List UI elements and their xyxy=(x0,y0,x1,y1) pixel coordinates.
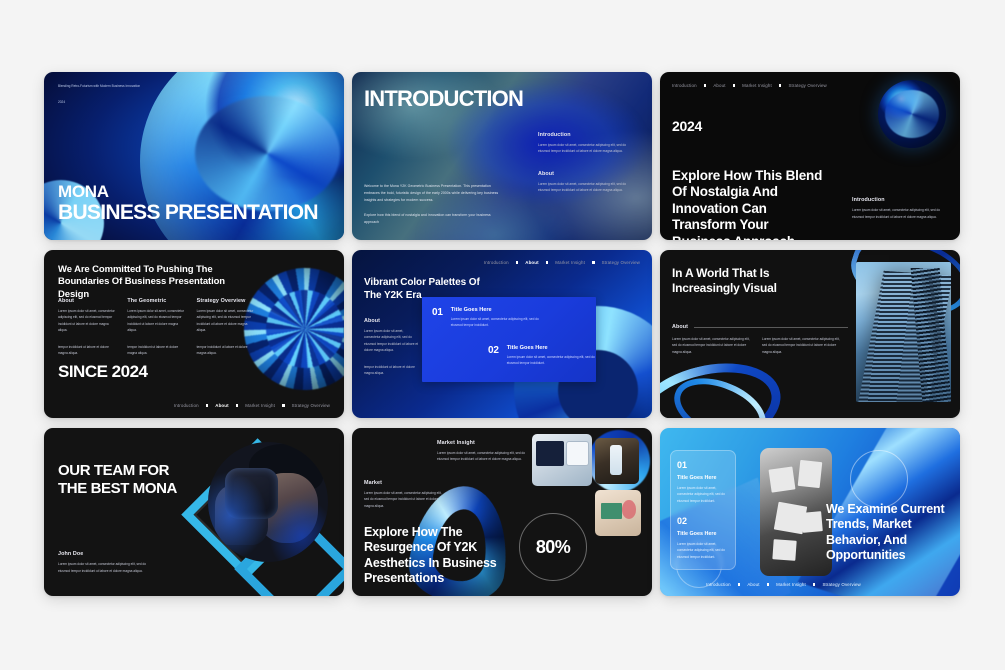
photo-detail xyxy=(208,442,328,562)
nav-item-introduction[interactable]: Introduction xyxy=(174,403,199,408)
nav-item-market-insight[interactable]: Market Insight xyxy=(245,403,275,408)
slide4-col-3-label: Strategy Overview xyxy=(197,298,254,304)
slide9-item-02-title: Title Goes Here xyxy=(677,531,731,537)
slide-grid: Blending Retro-Futurism with Modern Busi… xyxy=(44,72,960,596)
slide4-column: About Lorem ipsum dolor sit amet, consec… xyxy=(58,298,115,356)
team-member-photo xyxy=(208,442,328,562)
slide5-item-01-number: 01 xyxy=(432,307,443,329)
slide4-column: Strategy Overview Lorem ipsum dolor sit … xyxy=(197,298,254,356)
thumbnail-documents xyxy=(595,490,641,536)
nav-dot-icon xyxy=(546,261,549,264)
slide6-body-2: Lorem ipsum dolor sit amet, consectetur … xyxy=(762,336,840,355)
nav-item-strategy-overview[interactable]: Strategy Overview xyxy=(788,83,826,88)
nav-item-introduction[interactable]: Introduction xyxy=(484,260,509,265)
intro-col-1-label: Introduction xyxy=(538,132,638,138)
slide4-headline: We Are Committed To Pushing The Boundari… xyxy=(58,264,246,301)
slide5-side-label: About xyxy=(364,318,420,324)
slide5-item-02-body: Lorem ipsum dolor sit amet, consectetur … xyxy=(507,354,599,367)
slide3-side-label: Introduction xyxy=(852,197,948,203)
nav-item-market-insight[interactable]: Market Insight xyxy=(742,83,772,88)
slide4-col-1-body: Lorem ipsum dolor sit amet, consectetur … xyxy=(58,308,115,334)
team-meeting-photo xyxy=(760,448,832,576)
nav-dot-icon xyxy=(206,404,209,407)
slide4-big-text: SINCE 2024 xyxy=(58,362,148,382)
skyscraper-photo xyxy=(856,262,951,402)
slide-cover[interactable]: Blending Retro-Futurism with Modern Busi… xyxy=(44,72,344,240)
slide7-person-name: John Doe xyxy=(58,551,152,557)
cover-title-small: MONA xyxy=(58,183,334,200)
slide4-col-2-label: The Geometric xyxy=(127,298,184,304)
slide8-body-left: Lorem ipsum dolor sit amet, consectetur … xyxy=(364,490,442,509)
slide9-item-02-body: Lorem ipsum dolor sit amet, consectetur … xyxy=(677,541,731,560)
nav-item-introduction[interactable]: Introduction xyxy=(706,582,731,587)
slide-visual-world[interactable]: In A World That Is Increasingly Visual A… xyxy=(660,250,960,418)
slide3-headline: Explore How This Blend Of Nostalgia And … xyxy=(672,168,824,240)
nav-item-about[interactable]: About xyxy=(215,403,228,408)
nav-item-about[interactable]: About xyxy=(713,83,725,88)
nav-item-about[interactable]: About xyxy=(525,260,538,265)
nav-dot-icon xyxy=(282,404,285,407)
slide-we-examine[interactable]: 01 Title Goes Here Lorem ipsum dolor sit… xyxy=(660,428,960,596)
slide5-item-02-title: Title Goes Here xyxy=(507,345,599,351)
nav-dot-icon xyxy=(704,84,707,87)
slide-introduction[interactable]: INTRODUCTION Welcome to the Mona Y2K Geo… xyxy=(352,72,652,240)
slide4-col-1-label: About xyxy=(58,298,115,304)
slide9-nav[interactable]: Introduction About Market Insight Strate… xyxy=(706,582,861,587)
divider xyxy=(694,327,848,328)
slide3-nav[interactable]: Introduction About Market Insight Strate… xyxy=(672,83,827,88)
slide5-side-body: Lorem ipsum dolor sit amet, consectetur … xyxy=(364,328,420,354)
intro-paragraph-1: Welcome to the Mona Y2K Geometric Busine… xyxy=(364,183,502,203)
nav-dot-icon xyxy=(733,84,736,87)
slide5-item-02-number: 02 xyxy=(488,345,499,367)
intro-title: INTRODUCTION xyxy=(364,88,523,110)
slide-year-2024[interactable]: Introduction About Market Insight Strate… xyxy=(660,72,960,240)
nav-item-about[interactable]: About xyxy=(747,582,759,587)
slide-market-insight[interactable]: Market Insight Lorem ipsum dolor sit ame… xyxy=(352,428,652,596)
slide9-item-02-number: 02 xyxy=(677,516,731,526)
slide4-col-1-extra: tempor incididunt ut labore et dolore ma… xyxy=(58,344,115,357)
intro-col-2-label: About xyxy=(538,171,638,177)
nav-dot-icon xyxy=(738,583,741,586)
slide9-headline: We Examine Current Trends, Market Behavi… xyxy=(826,502,950,563)
slide9-item-01-body: Lorem ipsum dolor sit amet, consectetur … xyxy=(677,485,731,504)
slide8-headline: Explore How The Resurgence Of Y2K Aesthe… xyxy=(364,525,506,586)
slide8-body-top: Lorem ipsum dolor sit amet, consectetur … xyxy=(437,450,527,463)
slide4-col-3-body: Lorem ipsum dolor sit amet, consectetur … xyxy=(197,308,254,334)
nav-dot-icon xyxy=(516,261,519,264)
slide7-headline: OUR TEAM FOR THE BEST MONA xyxy=(58,462,178,497)
slide5-headline: Vibrant Color Palettes Of The Y2K Era xyxy=(364,276,496,302)
nav-dot-icon xyxy=(236,404,239,407)
slide6-label: About xyxy=(672,324,688,330)
slide5-item-01-body: Lorem ipsum dolor sit amet, consectetur … xyxy=(451,316,549,329)
slide6-body-1: Lorem ipsum dolor sit amet, consectetur … xyxy=(672,336,750,355)
intro-col-2-body: Lorem ipsum dolor sit amet, consectetur … xyxy=(538,181,638,194)
slide7-person-bio: Lorem ipsum dolor sit amet, consectetur … xyxy=(58,561,152,574)
slide-boundaries[interactable]: We Are Committed To Pushing The Boundari… xyxy=(44,250,344,418)
slide9-item-01-title: Title Goes Here xyxy=(677,475,731,481)
nav-dot-icon xyxy=(813,583,816,586)
decorative-circle xyxy=(850,450,908,508)
nav-item-market-insight[interactable]: Market Insight xyxy=(555,260,585,265)
nav-item-strategy-overview[interactable]: Strategy Overview xyxy=(602,260,640,265)
slide5-item-02: 02 Title Goes Here Lorem ipsum dolor sit… xyxy=(488,345,599,367)
thumbnail-phone xyxy=(595,438,639,484)
slide8-stat-value: 80% xyxy=(536,537,570,558)
slide-color-palettes[interactable]: Introduction About Market Insight Strate… xyxy=(352,250,652,418)
slide5-nav[interactable]: Introduction About Market Insight Strate… xyxy=(484,260,640,265)
slide5-item-01: 01 Title Goes Here Lorem ipsum dolor sit… xyxy=(432,307,549,329)
slide9-item-01: 01 Title Goes Here Lorem ipsum dolor sit… xyxy=(677,460,731,504)
slide4-nav[interactable]: Introduction About Market Insight Strate… xyxy=(174,403,330,408)
stat-circle: 80% xyxy=(519,513,587,581)
cover-year: 2024 xyxy=(58,99,153,105)
slide8-label-left: Market xyxy=(364,480,442,486)
slide6-headline: In A World That Is Increasingly Visual xyxy=(672,266,784,295)
slide5-item-01-title: Title Goes Here xyxy=(451,307,549,313)
slide8-label-top: Market Insight xyxy=(437,440,527,446)
slide9-item-02: 02 Title Goes Here Lorem ipsum dolor sit… xyxy=(677,516,731,560)
nav-dot-icon xyxy=(592,261,595,264)
nav-item-introduction[interactable]: Introduction xyxy=(672,83,697,88)
nav-item-strategy-overview[interactable]: Strategy Overview xyxy=(822,582,860,587)
slide4-col-2-body: Lorem ipsum dolor sit amet, consectetur … xyxy=(127,308,184,334)
thumbnail-workspace xyxy=(532,434,592,486)
slide3-side-body: Lorem ipsum dolor sit amet, consectetur … xyxy=(852,207,948,220)
slide5-feature-card: 01 Title Goes Here Lorem ipsum dolor sit… xyxy=(422,297,596,382)
slide4-column: The Geometric Lorem ipsum dolor sit amet… xyxy=(127,298,184,356)
nav-item-market-insight[interactable]: Market Insight xyxy=(776,582,806,587)
abstract-sphere-shape xyxy=(878,80,946,148)
nav-dot-icon xyxy=(779,84,782,87)
slide-our-team[interactable]: OUR TEAM FOR THE BEST MONA John Doe Lore… xyxy=(44,428,344,596)
cover-kicker: Blending Retro-Futurism with Modern Busi… xyxy=(58,84,153,90)
slide4-col-2-extra: tempor incididunt ut labore et dolore ma… xyxy=(127,344,184,357)
slide9-item-01-number: 01 xyxy=(677,460,731,470)
cover-title-large: BUSINESS PRESENTATION xyxy=(58,202,334,224)
nav-dot-icon xyxy=(767,583,770,586)
intro-paragraph-2: Explore how this blend of nostalgia and … xyxy=(364,212,502,226)
slide5-side-extra: tempor incididunt ut labore et dolore ma… xyxy=(364,364,420,377)
intro-col-1-body: Lorem ipsum dolor sit amet, consectetur … xyxy=(538,142,638,155)
slide3-year: 2024 xyxy=(672,118,702,134)
slide4-col-3-extra: tempor incididunt ut labore et dolore ma… xyxy=(197,344,254,357)
nav-item-strategy-overview[interactable]: Strategy Overview xyxy=(292,403,330,408)
